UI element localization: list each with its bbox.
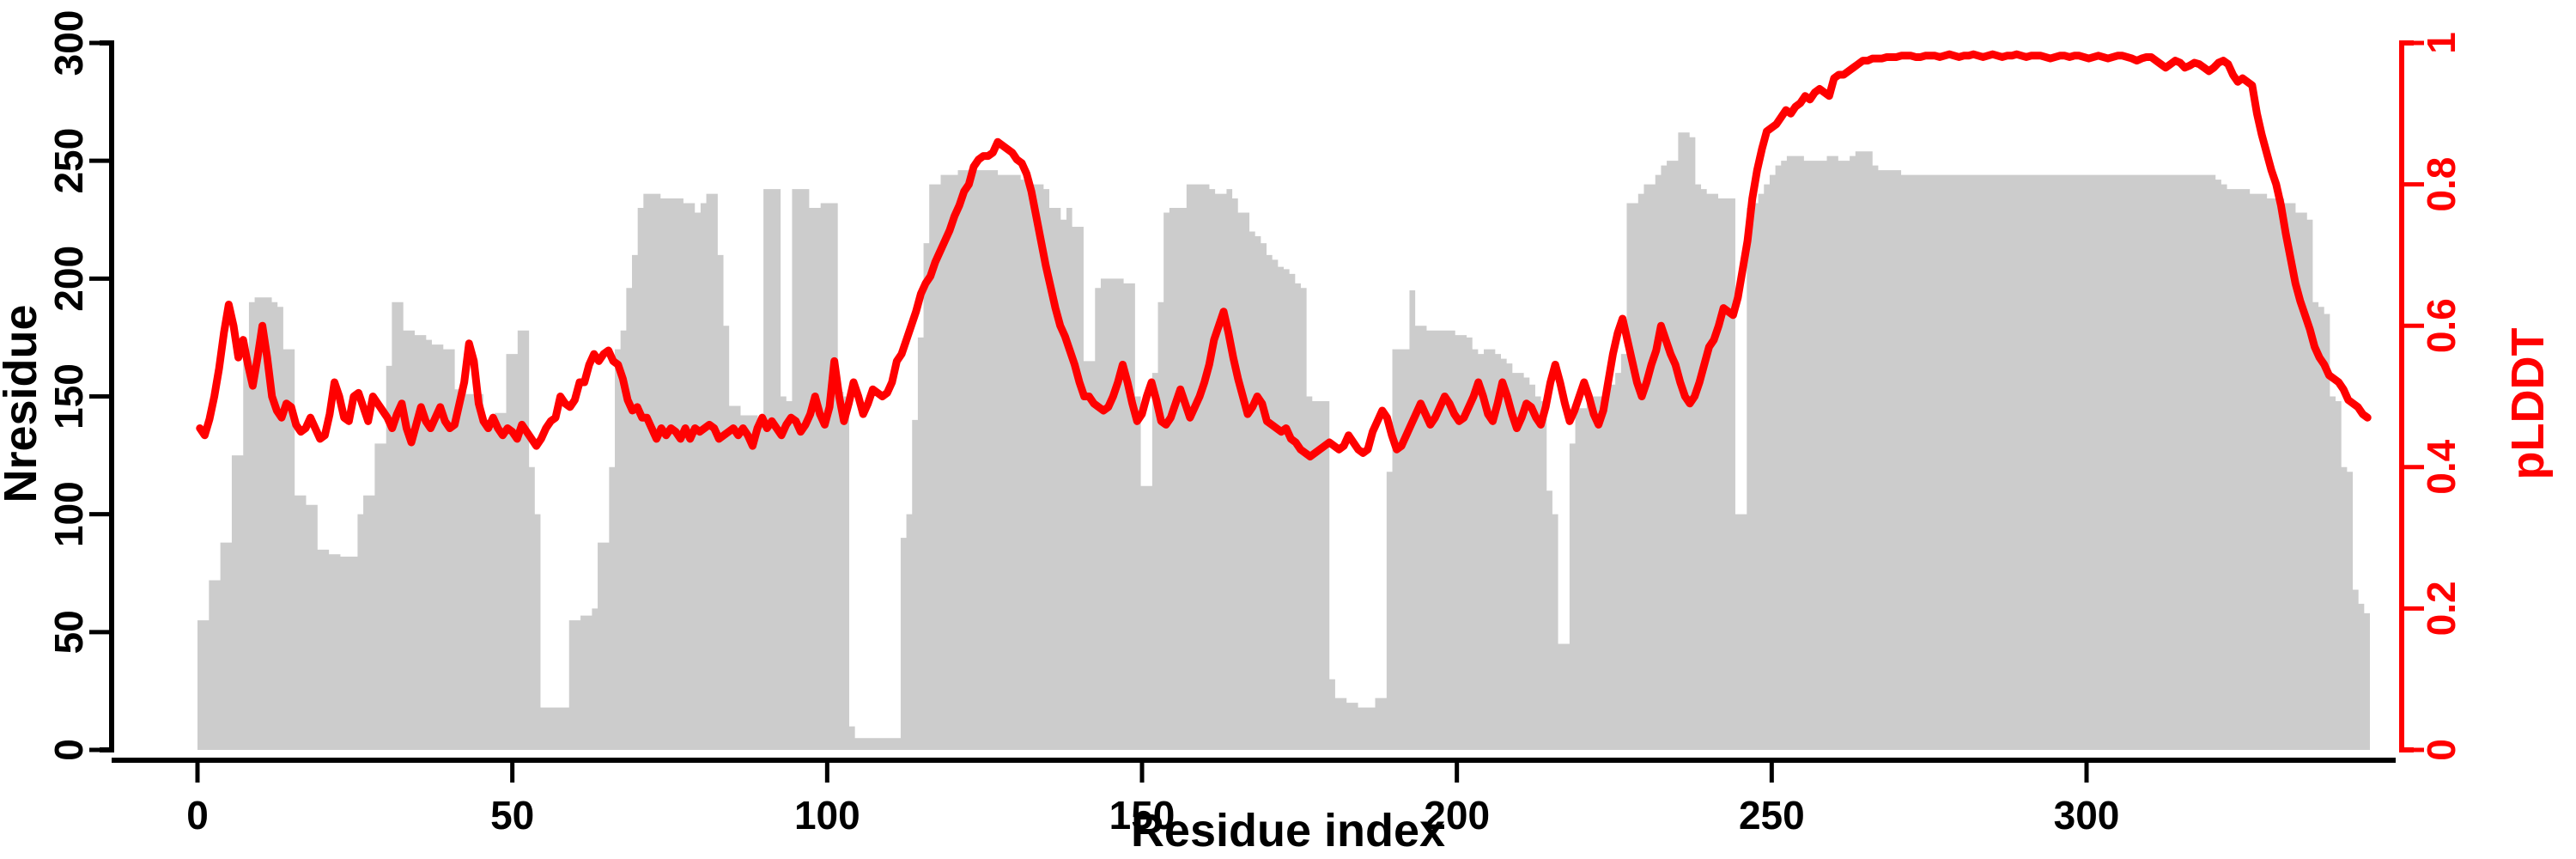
right-tick-label: 0.2 [2419,581,2464,636]
right-tick-label: 0.8 [2419,157,2464,212]
left-axis: 050100150200250300 [46,10,112,761]
left-tick-label: 0 [46,739,91,761]
nresidue-bar-area [197,132,2370,750]
left-axis-ticks: 050100150200250300 [46,10,112,761]
left-tick-label: 200 [46,246,91,312]
y2-axis-title: pLDDT [2502,328,2554,480]
right-tick-label: 0.4 [2419,439,2464,494]
right-tick-label: 0 [2419,739,2464,761]
right-tick-label: 1 [2419,32,2464,54]
right-tick-label: 0.6 [2419,298,2464,353]
right-axis-ticks: 00.20.40.60.81 [2402,32,2464,761]
left-tick-label: 100 [46,481,91,547]
plddt-nresidue-chart: 050100150200250300 050100150200250300 00… [0,0,2576,859]
left-tick-label: 250 [46,128,91,194]
bottom-tick-label: 300 [2054,793,2120,838]
right-axis-line [2402,43,2414,750]
bars-layer [197,132,2370,750]
y-axis-title: Nresidue [0,304,46,503]
bottom-tick-label: 50 [490,793,534,838]
chart-canvas: 050100150200250300 050100150200250300 00… [0,0,2576,859]
left-tick-label: 150 [46,363,91,429]
left-tick-label: 300 [46,10,91,76]
bottom-tick-label: 100 [794,793,860,838]
right-axis: 00.20.40.60.81 [2402,32,2464,761]
bottom-tick-label: 0 [186,793,209,838]
bottom-tick-label: 250 [1739,793,1805,838]
x-axis-title: Residue index [1131,805,1445,856]
left-tick-label: 50 [46,610,91,654]
